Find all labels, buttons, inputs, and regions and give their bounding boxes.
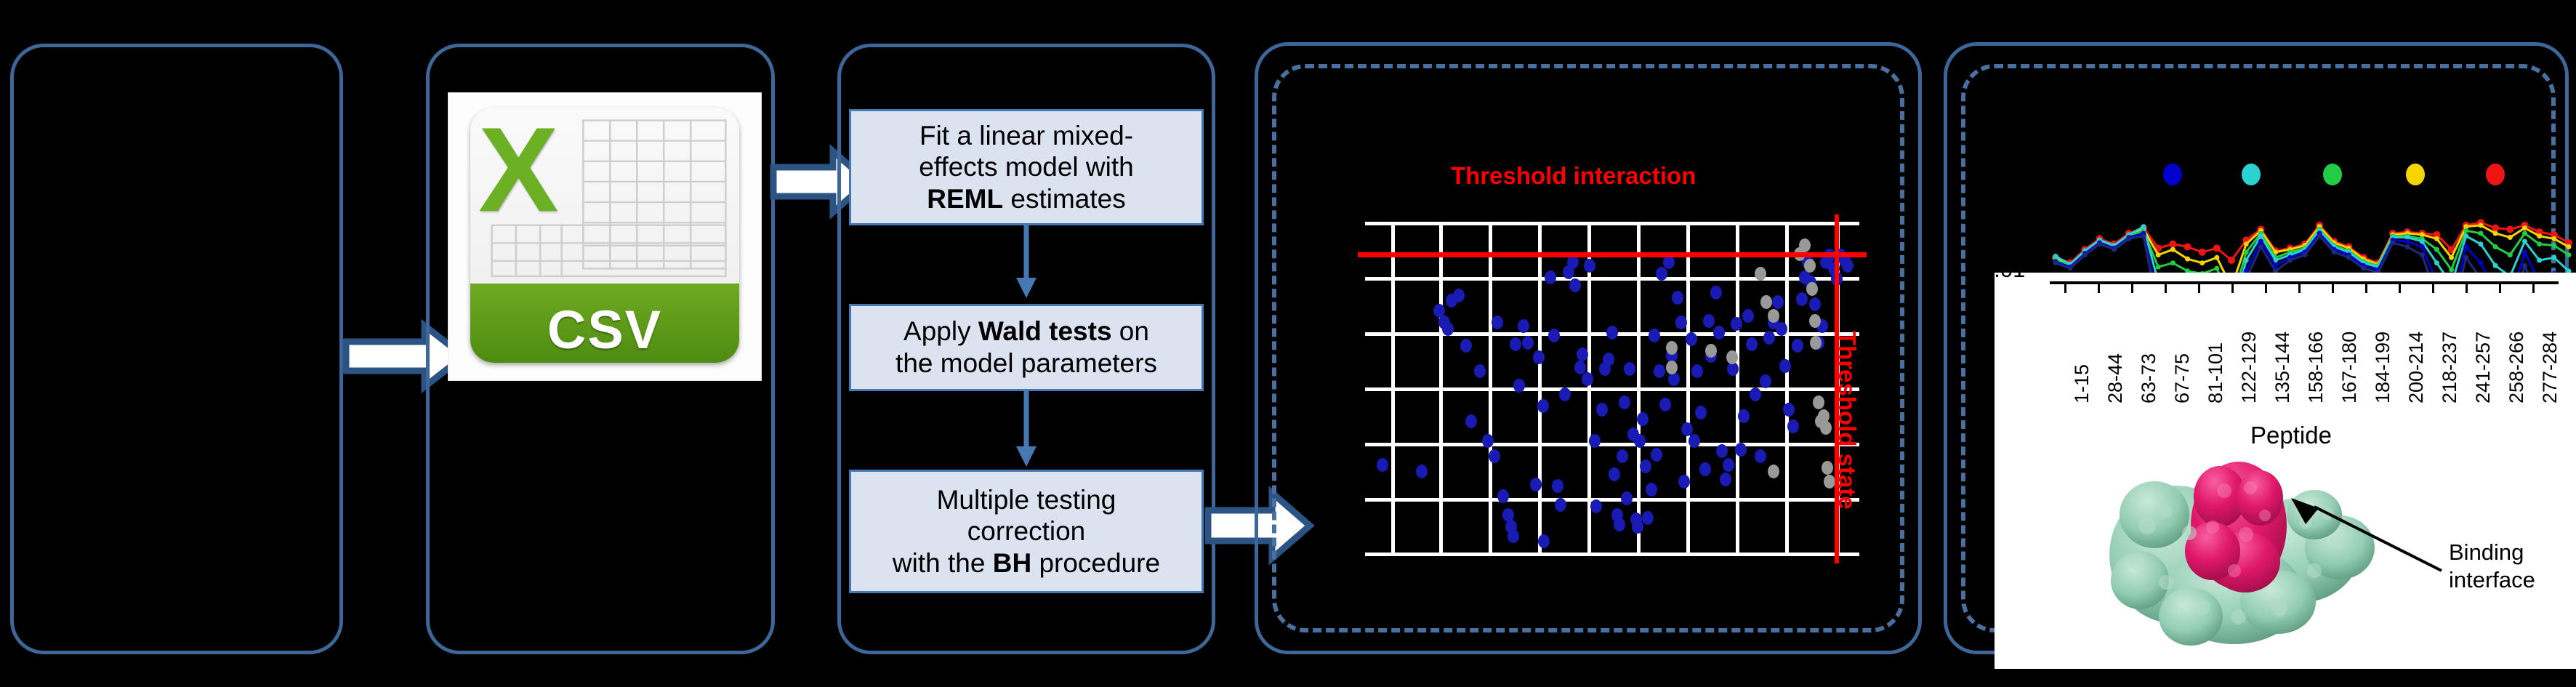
line-marker xyxy=(2287,258,2293,263)
scatter-gridline-v xyxy=(1439,222,1443,556)
threshold-state-label: Threshold state xyxy=(1833,331,1861,510)
scatter-point xyxy=(1474,364,1486,378)
scatter-point xyxy=(1668,372,1680,386)
line-marker xyxy=(2332,249,2337,254)
scatter-point xyxy=(1799,238,1811,252)
scatter-point xyxy=(1760,295,1772,309)
scatter-point xyxy=(1703,314,1715,328)
scatter-point xyxy=(1842,259,1853,273)
scatter-point xyxy=(1569,278,1581,292)
line-marker xyxy=(2170,247,2175,252)
line-marker xyxy=(2478,231,2483,236)
line-marker xyxy=(2420,239,2425,244)
line-marker xyxy=(2478,260,2483,265)
scatter-point xyxy=(1453,289,1465,302)
line-marker xyxy=(2522,263,2527,268)
legend-dot-t3 xyxy=(2323,164,2342,185)
scatter-point xyxy=(1492,316,1503,329)
scatter-point xyxy=(1750,387,1761,401)
line-marker xyxy=(2156,265,2161,270)
scatter-point xyxy=(1772,295,1784,309)
line-marker xyxy=(2156,252,2161,257)
line-marker xyxy=(2522,231,2527,236)
x-axis-tick-label: 241-257 xyxy=(2472,332,2495,403)
line-marker xyxy=(2492,225,2499,232)
x-axis-tick-label: 81-101 xyxy=(2205,342,2227,403)
line-marker xyxy=(2214,266,2219,271)
scatter-point xyxy=(1686,332,1697,346)
line-marker xyxy=(2567,244,2572,249)
line-marker xyxy=(2126,236,2131,241)
scatter-point xyxy=(1555,498,1566,512)
binding-interface-arrow xyxy=(2285,498,2452,578)
line-marker xyxy=(2244,241,2249,246)
scatter-point xyxy=(1577,347,1588,361)
line-marker xyxy=(2228,257,2235,264)
x-axis-tick xyxy=(2231,281,2234,293)
scatter-point xyxy=(1768,309,1779,323)
scatter-point xyxy=(1545,270,1556,284)
line-marker xyxy=(2537,241,2542,246)
x-axis-tick xyxy=(2265,281,2267,293)
line-marker xyxy=(2420,244,2425,249)
scatter-point xyxy=(1699,462,1711,476)
line-marker xyxy=(2053,254,2058,259)
scatter-gridline-v xyxy=(1489,222,1492,556)
line-marker xyxy=(2244,258,2249,263)
scatter-gridline-v xyxy=(1736,222,1739,556)
scatter-point xyxy=(1666,341,1678,355)
scatter-point xyxy=(1614,518,1625,531)
line-marker xyxy=(2463,228,2468,233)
scatter-point xyxy=(1609,467,1620,481)
x-axis-tick-label: 158-166 xyxy=(2305,332,2327,403)
line-marker xyxy=(2493,231,2498,236)
scatter-point xyxy=(1776,322,1787,336)
line-marker xyxy=(2551,236,2556,241)
line-marker xyxy=(2170,260,2175,265)
scatter-point xyxy=(1651,448,1662,462)
binding-interface-label: Binding interface xyxy=(2449,539,2535,594)
scatter-point xyxy=(1596,403,1608,417)
line-marker xyxy=(2112,247,2117,252)
scatter-point xyxy=(1705,344,1717,358)
scatter-point xyxy=(1416,465,1428,478)
scatter-point xyxy=(1567,255,1579,269)
scatter-point xyxy=(1731,317,1742,331)
flow-step-fit-model: Fit a linear mixed- effects model with R… xyxy=(849,109,1204,225)
scatter-gridline-v xyxy=(1637,222,1641,556)
scatter-point xyxy=(1813,395,1824,409)
binding-interface-label-line1: Binding xyxy=(2449,539,2535,566)
scatter-point xyxy=(1606,326,1618,340)
line-marker xyxy=(2184,244,2191,251)
x-axis-line xyxy=(2050,281,2559,284)
x-axis-tick-label: 1-15 xyxy=(2071,364,2093,403)
scatter-point xyxy=(1726,350,1738,364)
line-marker xyxy=(2463,244,2468,249)
line-marker xyxy=(2169,241,2176,248)
line-marker xyxy=(2244,249,2249,254)
line-marker xyxy=(2361,266,2366,271)
scatter-point xyxy=(1809,314,1821,328)
scatter-point xyxy=(1552,479,1563,493)
scatter-point xyxy=(1510,337,1521,351)
scatter-point xyxy=(1787,419,1799,433)
line-marker xyxy=(2390,240,2395,245)
scatter-gridline-v xyxy=(1785,222,1789,556)
scatter-point xyxy=(1672,291,1683,305)
x-axis-tick xyxy=(2131,281,2133,293)
scatter-point xyxy=(1810,336,1822,350)
x-axis-tick xyxy=(2499,281,2501,293)
scatter-point xyxy=(1537,399,1549,413)
flow-step-wald-tests: Apply Wald tests on the model parameters xyxy=(849,304,1204,391)
line-marker xyxy=(2141,233,2146,238)
scatter-point xyxy=(1735,443,1747,457)
flow-step-multiple-testing: Multiple testing correction with the BH … xyxy=(849,470,1204,593)
line-marker xyxy=(2508,252,2513,257)
scatter-point xyxy=(1533,350,1545,364)
line-marker xyxy=(2522,239,2527,244)
scatter-gridline-v xyxy=(1391,222,1395,556)
line-marker xyxy=(2199,249,2206,256)
x-axis-tick xyxy=(2098,281,2100,293)
x-axis-tick xyxy=(2332,281,2334,293)
line-marker xyxy=(2449,267,2454,272)
line-marker xyxy=(2302,252,2307,257)
scatter-point xyxy=(1621,491,1633,505)
scatter-point xyxy=(1590,499,1602,513)
legend-dot-t5 xyxy=(2486,164,2505,185)
scatter-point xyxy=(1742,309,1754,323)
line-marker xyxy=(2506,225,2513,233)
x-axis-tick-label: 167-180 xyxy=(2338,332,2361,403)
line-marker xyxy=(2420,252,2425,257)
line-marker xyxy=(2463,255,2468,260)
line-marker xyxy=(2068,266,2073,271)
x-axis-tick xyxy=(2432,281,2434,293)
scatter-point xyxy=(1695,406,1707,419)
legend-dot-t4 xyxy=(2406,164,2425,185)
line-marker xyxy=(2493,244,2498,249)
line-marker xyxy=(2537,258,2542,263)
scatter-point xyxy=(1489,449,1500,463)
line-marker xyxy=(2522,249,2527,254)
line-marker xyxy=(2434,236,2439,241)
scatter-point xyxy=(1637,412,1649,426)
line-marker xyxy=(2537,233,2542,238)
scatter-point xyxy=(1792,339,1803,353)
flow-step-multiple-testing-text: Multiple testing correction with the BH … xyxy=(893,484,1160,579)
scatter-point xyxy=(1720,473,1731,486)
scatter-point xyxy=(1804,259,1816,273)
scatter-point xyxy=(1460,339,1472,353)
scatter-point xyxy=(1617,449,1628,463)
line-marker xyxy=(2567,252,2572,257)
line-marker xyxy=(2405,239,2410,244)
scatter-point xyxy=(1678,475,1690,489)
legend-dot-t1 xyxy=(2163,164,2182,185)
scatter-point xyxy=(1779,359,1791,373)
scatter-point xyxy=(1377,458,1388,472)
scatter-point xyxy=(1640,459,1651,473)
x-axis-tick xyxy=(2298,281,2301,293)
x-axis-tick xyxy=(2466,281,2468,293)
line-marker xyxy=(2258,244,2263,249)
line-marker xyxy=(2346,255,2351,260)
scatter-point xyxy=(1822,461,1833,475)
line-marker xyxy=(2434,247,2439,252)
x-axis-tick-label: 258-266 xyxy=(2505,332,2528,403)
scatter-point xyxy=(1723,458,1734,472)
scatter-point xyxy=(1654,364,1665,378)
line-marker xyxy=(2258,239,2263,244)
threshold-interaction-line xyxy=(1358,252,1867,257)
line-marker xyxy=(2551,255,2556,260)
scatter-point xyxy=(1632,520,1643,534)
x-axis-tick xyxy=(2532,281,2535,293)
scatter-point xyxy=(1522,336,1534,350)
scatter-point xyxy=(1649,329,1660,342)
scatter-point xyxy=(1508,529,1519,543)
binding-interface-label-line2: interface xyxy=(2449,566,2535,594)
line-marker xyxy=(2522,225,2527,230)
x-axis-tick xyxy=(2165,281,2167,293)
flow-step-fit-model-text: Fit a linear mixed- effects model with R… xyxy=(919,120,1133,215)
csv-icon-badge: X CSV xyxy=(470,108,739,363)
scatter-point xyxy=(1806,282,1818,296)
excel-x-glyph: X xyxy=(478,113,558,227)
scatter-gridline-v xyxy=(1538,222,1542,556)
x-axis-tick xyxy=(2064,281,2066,293)
line-marker xyxy=(2493,263,2498,268)
line-marker xyxy=(2478,222,2483,228)
scatter-point xyxy=(1768,465,1779,478)
line-marker xyxy=(2405,244,2410,249)
x-axis-tick xyxy=(2399,281,2401,293)
x-axis-tick-label: 135-144 xyxy=(2271,332,2294,403)
scatter-point xyxy=(1666,361,1678,374)
scatter-point xyxy=(1675,316,1687,329)
scatter-point xyxy=(1691,364,1703,378)
line-marker xyxy=(2053,260,2058,265)
x-axis-tick-label: 184-199 xyxy=(2372,332,2394,403)
scatter-point xyxy=(1642,511,1654,525)
scatter-point xyxy=(1760,374,1771,388)
scatter-plot-area xyxy=(1365,222,1859,556)
scatter-point xyxy=(1809,297,1821,311)
line-marker xyxy=(2478,241,2483,246)
scatter-point xyxy=(1713,326,1725,340)
scatter-point xyxy=(1796,292,1808,306)
csv-file-icon: X CSV xyxy=(448,93,761,380)
line-marker xyxy=(2317,233,2322,238)
csv-label: CSV xyxy=(470,299,739,361)
scatter-point xyxy=(1518,319,1529,333)
scatter-point xyxy=(1482,434,1494,448)
scatter-point xyxy=(1624,362,1635,376)
scatter-point xyxy=(1582,372,1593,386)
x-axis-tick-label: 122-129 xyxy=(2238,332,2261,403)
scatter-point xyxy=(1619,395,1630,409)
line-marker xyxy=(2199,260,2205,265)
line-marker xyxy=(2449,255,2454,260)
scatter-point xyxy=(1783,403,1795,417)
scatter-point xyxy=(1763,331,1775,345)
scatter-point xyxy=(1646,483,1657,497)
line-marker xyxy=(2434,260,2439,265)
scatter-point xyxy=(1538,534,1550,548)
line-marker xyxy=(2463,233,2468,238)
scatter-point xyxy=(1755,449,1766,463)
x-axis-tick-label: 200-214 xyxy=(2405,332,2428,403)
x-axis-tick-label: 67-75 xyxy=(2171,353,2194,403)
threshold-interaction-label: Threshold interaction xyxy=(1451,162,1696,190)
line-marker xyxy=(2185,257,2190,262)
scatter-point xyxy=(1663,255,1675,269)
x-axis-tick xyxy=(2198,281,2200,293)
line-marker xyxy=(2141,224,2146,229)
scatter-point xyxy=(1716,444,1728,458)
legend-dot-t2 xyxy=(2242,164,2261,185)
scatter-gridline-v xyxy=(1686,222,1690,556)
scatter-point xyxy=(1659,398,1671,411)
line-marker xyxy=(2082,252,2088,257)
scatter-point xyxy=(1465,414,1477,428)
x-axis-tick-label: 218-237 xyxy=(2439,332,2461,403)
line-marker xyxy=(2097,241,2102,246)
line-marker xyxy=(2508,235,2513,240)
x-axis-tick xyxy=(2365,281,2367,293)
line-marker xyxy=(2551,243,2556,248)
x-axis-tick-label: 277-284 xyxy=(2539,332,2561,403)
scatter-point xyxy=(1820,421,1832,435)
connector-step2-to-step3 xyxy=(1012,390,1041,470)
scatter-point xyxy=(1746,337,1758,351)
scatter-point xyxy=(1559,387,1571,401)
panel-empty-input xyxy=(10,44,343,654)
x-axis-tick-label: 28-44 xyxy=(2104,353,2127,403)
line-marker xyxy=(2258,233,2263,238)
scatter-point xyxy=(1548,329,1560,342)
y-axis-tick-label: 0.01 xyxy=(1995,273,2025,283)
connector-step1-to-step2 xyxy=(1012,224,1041,300)
scatter-point xyxy=(1530,478,1542,491)
line-marker xyxy=(2213,244,2221,252)
line-marker xyxy=(2214,255,2219,260)
scatter-point xyxy=(1738,409,1750,423)
scatter-point xyxy=(1584,259,1595,273)
scatter-point xyxy=(1603,353,1614,366)
peptide-results-inset-card: 0.01 1-1528-4463-7367-7581-101122-129135… xyxy=(1995,273,2576,669)
flow-step-wald-tests-text: Apply Wald tests on the model parameters xyxy=(895,316,1157,379)
scatter-point xyxy=(1710,286,1722,300)
x-axis-tick-label: 63-73 xyxy=(2138,353,2160,403)
